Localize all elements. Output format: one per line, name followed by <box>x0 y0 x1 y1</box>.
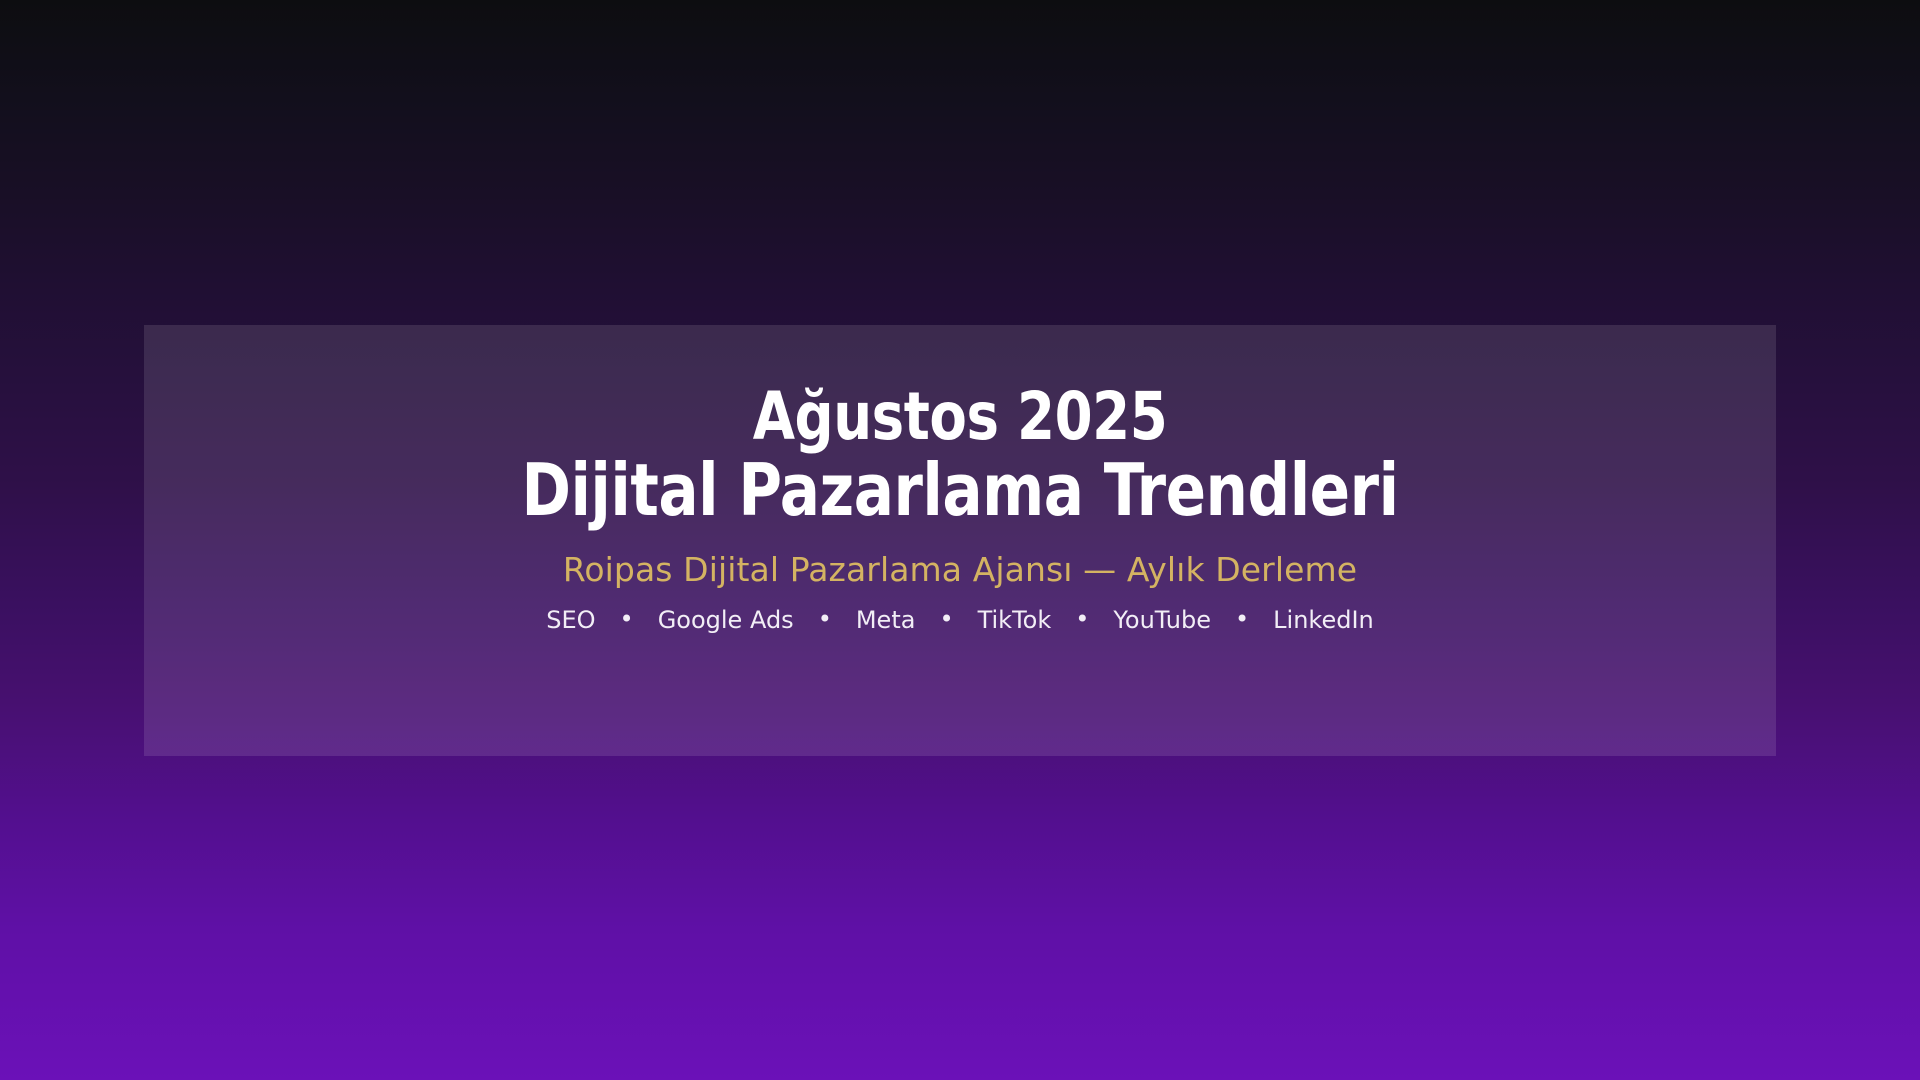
platform-item: SEO <box>546 606 595 635</box>
platform-item: LinkedIn <box>1273 606 1374 635</box>
subtitle: Roipas Dijital Pazarlama Ajansı — Aylık … <box>563 550 1357 590</box>
platform-item: TikTok <box>978 606 1052 635</box>
platform-item: Google Ads <box>658 606 794 635</box>
page-title: Ağustos 2025 Dijital Pazarlama Trendleri <box>144 382 1776 528</box>
title-slide: Ağustos 2025 Dijital Pazarlama Trendleri… <box>0 0 1920 1080</box>
bullet-separator-icon: • <box>1075 607 1089 631</box>
title-line-secondary: Dijital Pazarlama Trendleri <box>209 452 1710 528</box>
hero-card: Ağustos 2025 Dijital Pazarlama Trendleri… <box>144 325 1776 756</box>
platform-item: Meta <box>856 606 916 635</box>
bullet-separator-icon: • <box>818 607 832 631</box>
bullet-separator-icon: • <box>939 607 953 631</box>
title-line-primary: Ağustos 2025 <box>209 382 1710 452</box>
platform-item: YouTube <box>1113 606 1211 635</box>
bullet-separator-icon: • <box>1235 607 1249 631</box>
bullet-separator-icon: • <box>620 607 634 631</box>
platform-list: SEO•Google Ads•Meta•TikTok•YouTube•Linke… <box>546 606 1374 635</box>
